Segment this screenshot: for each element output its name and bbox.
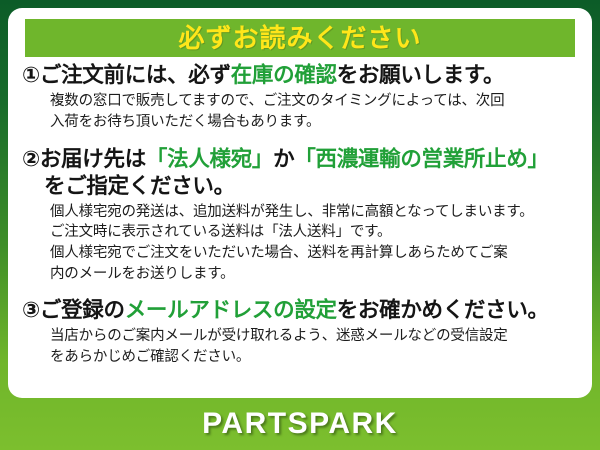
- item-1-number: ①: [22, 63, 40, 87]
- item-1-headline: ①ご注文前には、必ず在庫の確認をお願いします。: [22, 62, 582, 88]
- notice-item-1: ①ご注文前には、必ず在庫の確認をお願いします。 複数の窓口で販売してますので、ご…: [8, 62, 592, 132]
- item-1-headline-post: をお願いします。: [337, 63, 504, 87]
- item-1-headline-pre: ご注文前には、必ず: [40, 63, 231, 87]
- item-2-headline: ②お届け先は「法人様宛」か「西濃運輸の営業所止め」: [22, 146, 582, 172]
- notice-banner: 必ずお読みください ①ご注文前には、必ず在庫の確認をお願いします。 複数の窓口で…: [0, 0, 600, 450]
- item-2-headline-mid: か: [273, 147, 294, 171]
- footer-bar: PARTSPARK: [0, 398, 600, 450]
- item-3-number: ③: [22, 298, 40, 322]
- item-2-body-line-1: 個人様宅宛の発送は、追加送料が発生し、非常に高額となってしまいます。: [22, 202, 582, 223]
- item-2-body-line-3: 個人様宅宛でご注文をいただいた場合、送料を再計算しあらためてご案: [22, 243, 582, 264]
- item-2-number: ②: [22, 147, 40, 171]
- item-2-headline-pre: お届け先は: [40, 147, 146, 171]
- item-3-headline-highlight: メールアドレスの設定: [125, 298, 337, 322]
- notice-item-2: ②お届け先は「法人様宛」か「西濃運輸の営業所止め」 をご指定ください。 個人様宅…: [8, 146, 592, 284]
- item-2-body-line-4: 内のメールをお送りします。: [22, 264, 582, 285]
- item-3-body-line-2: をあらかじめご確認ください。: [22, 347, 582, 368]
- item-2-headline-second-line: をご指定ください。: [22, 173, 582, 199]
- item-2-headline-highlight: 「法人様宛」: [146, 147, 273, 171]
- notice-card: 必ずお読みください ①ご注文前には、必ず在庫の確認をお願いします。 複数の窓口で…: [8, 8, 592, 398]
- item-2-headline-highlight-2: 「西濃運輸の営業所止め」: [294, 147, 548, 171]
- notice-item-3: ③ご登録のメールアドレスの設定をお確かめください。 当店からのご案内メールが受け…: [8, 297, 592, 367]
- title-bar: 必ずお読みください: [25, 19, 575, 57]
- notice-body: ①ご注文前には、必ず在庫の確認をお願いします。 複数の窓口で販売してますので、ご…: [8, 62, 592, 368]
- item-1-body-line-2: 入荷をお待ち頂いただく場合もあります。: [22, 112, 582, 133]
- item-2-body-line-2: ご注文時に表示されている送料は「法人送料」です。: [22, 222, 582, 243]
- brand-logo-text: PARTSPARK: [202, 409, 398, 439]
- item-3-body-line-1: 当店からのご案内メールが受け取れるよう、迷惑メールなどの受信設定: [22, 326, 582, 347]
- banner-title: 必ずお読みください: [178, 25, 421, 51]
- item-1-body-line-1: 複数の窓口で販売してますので、ご注文のタイミングによっては、次回: [22, 91, 582, 112]
- item-1-headline-highlight: 在庫の確認: [231, 63, 337, 87]
- item-3-headline-post: をお確かめください。: [337, 298, 549, 322]
- item-3-headline-pre: ご登録の: [40, 298, 125, 322]
- item-3-headline: ③ご登録のメールアドレスの設定をお確かめください。: [22, 297, 582, 323]
